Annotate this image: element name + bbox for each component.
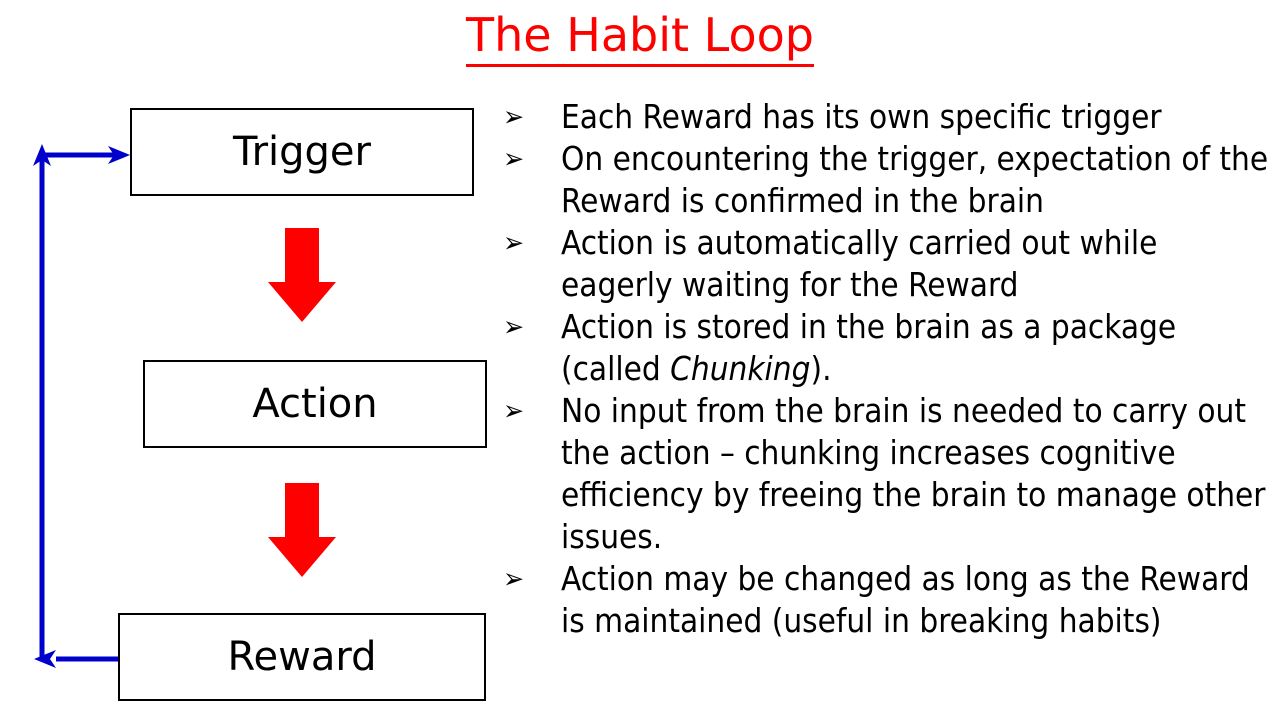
- list-item-text-pre: Each Reward has its own specific trigger: [561, 97, 1162, 136]
- bullet-arrow-icon: ➢: [503, 390, 561, 432]
- bullet-arrow-icon: ➢: [503, 138, 561, 180]
- diagram-node-reward-label: Reward: [228, 634, 377, 680]
- diagram-node-trigger[interactable]: Trigger: [130, 108, 474, 196]
- diagram-node-action[interactable]: Action: [143, 360, 487, 448]
- list-item-text-pre: Action may be changed as long as the Rew…: [561, 559, 1250, 640]
- page-title: The Habit Loop: [0, 8, 1280, 62]
- list-item-text-pre: Action is stored in the brain as a packa…: [561, 307, 1176, 388]
- list-item-text: On encountering the trigger, expectation…: [561, 138, 1278, 222]
- bullet-arrow-icon: ➢: [503, 222, 561, 264]
- list-item: ➢ Action may be changed as long as the R…: [503, 558, 1278, 642]
- bullet-arrow-icon: ➢: [503, 96, 561, 138]
- list-item-text-pre: On encountering the trigger, expectation…: [561, 139, 1268, 220]
- list-item-text: No input from the brain is needed to car…: [561, 390, 1278, 558]
- list-item: ➢ Action is stored in the brain as a pac…: [503, 306, 1278, 390]
- list-item-text: Action is stored in the brain as a packa…: [561, 306, 1278, 390]
- diagram-node-reward[interactable]: Reward: [118, 613, 486, 701]
- down-arrow-icon-action-to-reward: [266, 483, 338, 577]
- page-title-text: The Habit Loop: [466, 8, 814, 67]
- diagram-node-action-label: Action: [252, 381, 377, 427]
- list-item-text: Action is automatically carried out whil…: [561, 222, 1278, 306]
- bullet-arrow-icon: ➢: [503, 558, 561, 600]
- list-item: ➢ On encountering the trigger, expectati…: [503, 138, 1278, 222]
- list-item-text-pre: Action is automatically carried out whil…: [561, 223, 1157, 304]
- list-item-text-post: ).: [810, 349, 831, 388]
- list-item-text-emphasis: Chunking: [670, 349, 810, 388]
- down-arrow-icon-trigger-to-action: [266, 228, 338, 322]
- list-item: ➢ Each Reward has its own specific trigg…: [503, 96, 1278, 138]
- list-item: ➢ Action is automatically carried out wh…: [503, 222, 1278, 306]
- list-item: ➢ No input from the brain is needed to c…: [503, 390, 1278, 558]
- list-item-text-pre: No input from the brain is needed to car…: [561, 391, 1266, 556]
- list-item-text: Each Reward has its own specific trigger: [561, 96, 1278, 138]
- slide-canvas: The Habit Loop Trigger Action Reward ➢ E: [0, 0, 1280, 720]
- diagram-node-trigger-label: Trigger: [233, 129, 371, 175]
- bullet-list: ➢ Each Reward has its own specific trigg…: [503, 96, 1278, 642]
- bullet-arrow-icon: ➢: [503, 306, 561, 348]
- list-item-text: Action may be changed as long as the Rew…: [561, 558, 1278, 642]
